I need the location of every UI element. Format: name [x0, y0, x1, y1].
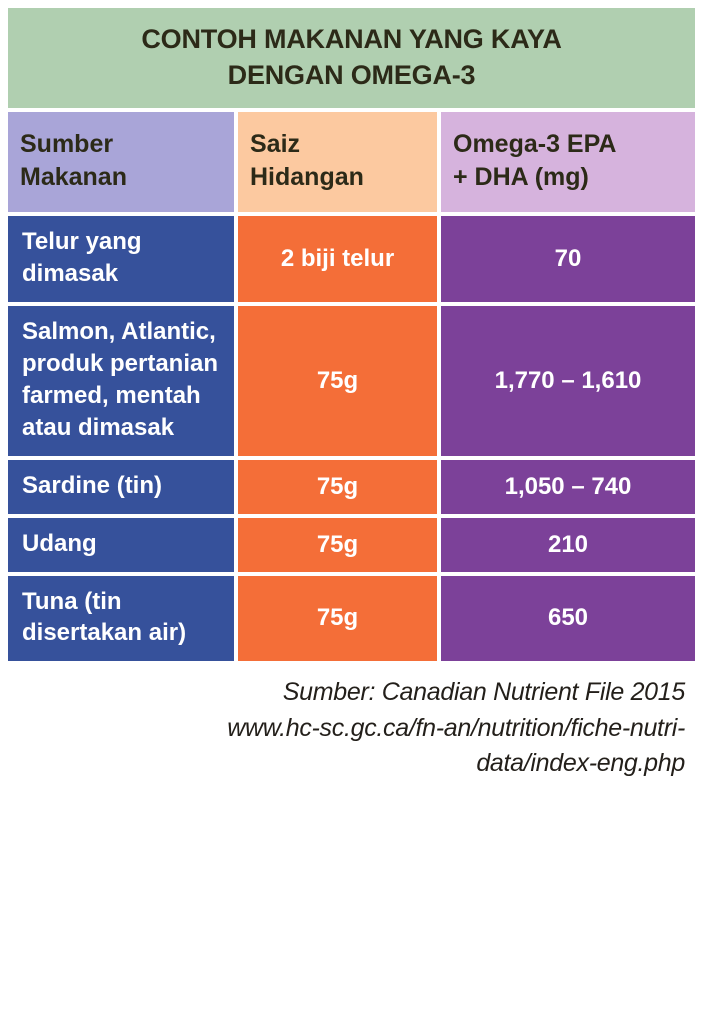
column-header-food-source: Sumber Makanan — [8, 112, 234, 212]
table-row: Udang 75g 210 — [8, 518, 695, 572]
column-header-food-source-line-2: Makanan — [20, 161, 127, 195]
table-row: Tuna (tin disertakan air) 75g 650 — [8, 576, 695, 662]
table-row: Salmon, Atlantic, produk pertanian farme… — [8, 306, 695, 456]
title-line-2: DENGAN OMEGA-3 — [18, 58, 685, 94]
table-row: Telur yang dimasak 2 biji telur 70 — [8, 216, 695, 302]
source-citation-line-2: www.hc-sc.gc.ca/fn-an/nutrition/fiche-nu… — [20, 711, 685, 747]
column-header-omega3-amount: Omega-3 EPA + DHA (mg) — [441, 112, 695, 212]
table-row: Sardine (tin) 75g 1,050 – 740 — [8, 460, 695, 514]
column-header-serving-size: Saiz Hidangan — [238, 112, 437, 212]
cell-serving-size: 75g — [238, 518, 437, 572]
cell-serving-size: 75g — [238, 306, 437, 456]
column-header-omega3-amount-line-1: Omega-3 EPA — [453, 128, 616, 162]
column-header-serving-size-line-2: Hidangan — [250, 161, 364, 195]
column-header-serving-size-line-1: Saiz — [250, 128, 364, 162]
source-citation-line-1: Sumber: Canadian Nutrient File 2015 — [20, 675, 685, 711]
cell-serving-size: 2 biji telur — [238, 216, 437, 302]
cell-omega3-amount: 210 — [441, 518, 695, 572]
infographic-title-banner: CONTOH MAKANAN YANG KAYA DENGAN OMEGA-3 — [8, 8, 695, 108]
cell-omega3-amount: 1,770 – 1,610 — [441, 306, 695, 456]
cell-food-source: Salmon, Atlantic, produk pertanian farme… — [8, 306, 234, 456]
cell-food-source: Sardine (tin) — [8, 460, 234, 514]
cell-omega3-amount: 70 — [441, 216, 695, 302]
cell-food-source: Tuna (tin disertakan air) — [8, 576, 234, 662]
cell-omega3-amount: 1,050 – 740 — [441, 460, 695, 514]
omega3-food-table-infographic: CONTOH MAKANAN YANG KAYA DENGAN OMEGA-3 … — [0, 0, 703, 1034]
source-citation-line-3: data/index-eng.php — [20, 746, 685, 782]
column-header-omega3-amount-line-2: + DHA (mg) — [453, 161, 616, 195]
cell-food-source: Udang — [8, 518, 234, 572]
title-line-1: CONTOH MAKANAN YANG KAYA — [18, 22, 685, 58]
table-header-row: Sumber Makanan Saiz Hidangan Omega-3 EPA… — [8, 112, 695, 212]
cell-omega3-amount: 650 — [441, 576, 695, 662]
column-header-food-source-line-1: Sumber — [20, 128, 127, 162]
cell-serving-size: 75g — [238, 576, 437, 662]
source-citation: Sumber: Canadian Nutrient File 2015 www.… — [8, 675, 695, 782]
cell-serving-size: 75g — [238, 460, 437, 514]
cell-food-source: Telur yang dimasak — [8, 216, 234, 302]
nutrition-table: Sumber Makanan Saiz Hidangan Omega-3 EPA… — [8, 112, 695, 665]
